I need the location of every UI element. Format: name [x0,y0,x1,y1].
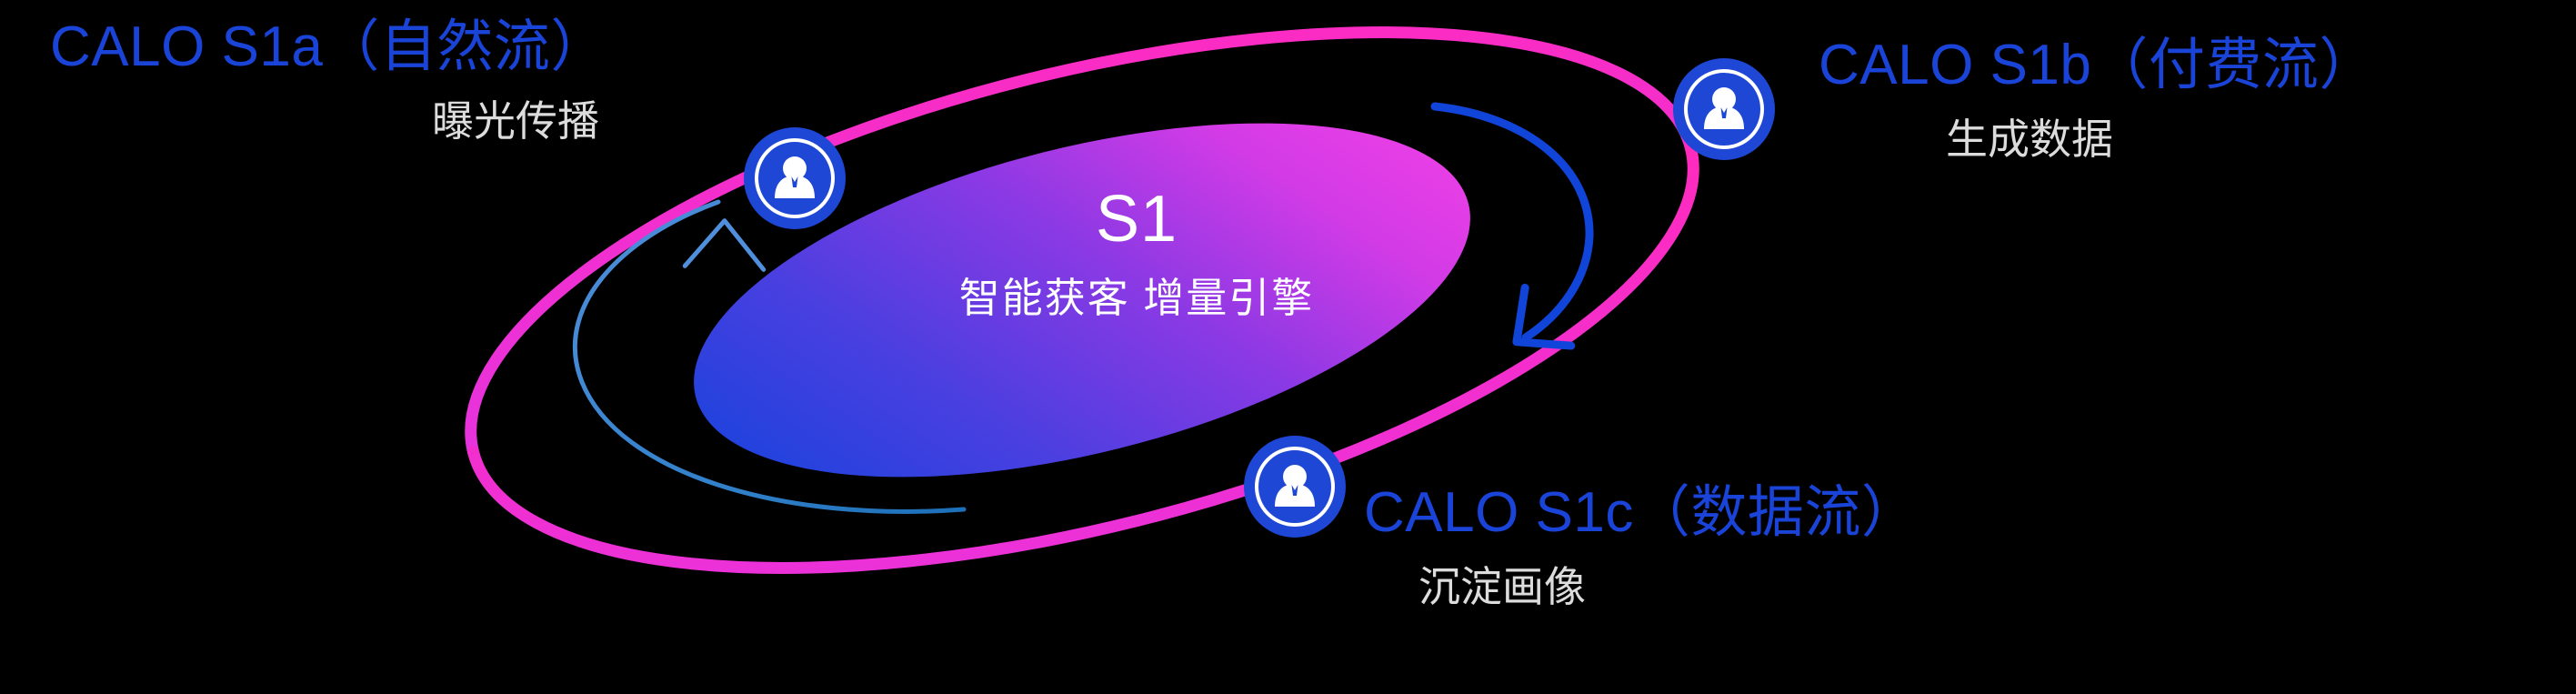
node-avatar-s1a[interactable] [744,127,846,229]
node-avatar-s1c[interactable] [1244,436,1346,538]
diagram-canvas: S1 智能获客 增量引擎 CALO S1a（自然流） 曝光传播 CALO S1b… [0,0,2576,694]
node-subtitle-s1b: 生成数据 [1946,116,2376,163]
node-avatar-s1b[interactable] [1673,58,1775,160]
node-label-s1c: CALO S1c（数据流） 沉淀画像 [1364,482,1918,610]
node-label-s1b: CALO S1b（付费流） 生成数据 [1819,35,2376,163]
node-subtitle-s1a: 曝光传播 [432,98,607,145]
node-subtitle-s1c: 沉淀画像 [1418,564,1918,610]
node-title-s1c: CALO S1c（数据流） [1364,482,1918,544]
node-label-s1a: CALO S1a（自然流） 曝光传播 [50,16,607,145]
node-title-s1b: CALO S1b（付费流） [1819,35,2376,96]
node-title-s1a: CALO S1a（自然流） [50,16,607,78]
